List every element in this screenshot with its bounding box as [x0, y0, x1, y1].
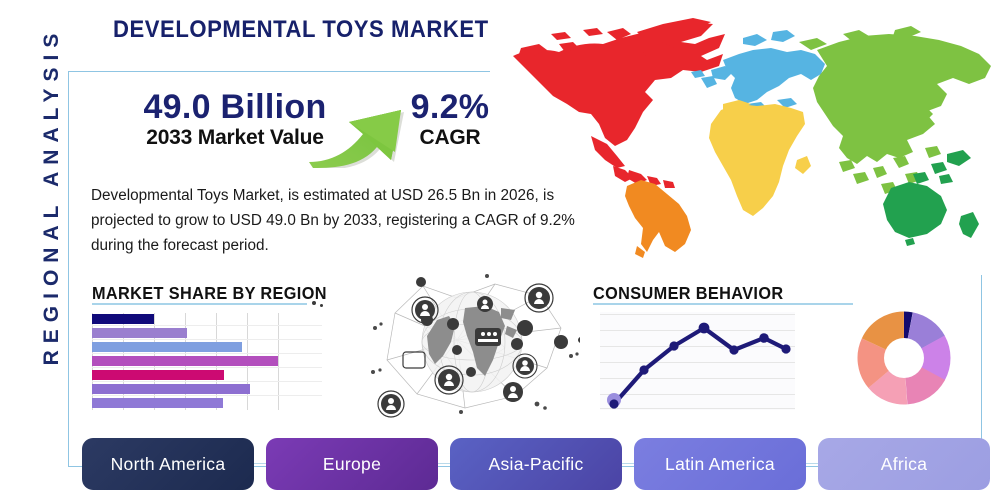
rule-dot-a	[312, 301, 316, 305]
region-tab-label: Africa	[881, 454, 928, 475]
bar-3	[92, 342, 242, 352]
region-tab-europe[interactable]: Europe	[266, 438, 438, 490]
cagr-number: 9.2%	[390, 88, 510, 126]
region-tab-asia-pacific[interactable]: Asia-Pacific	[450, 438, 622, 490]
bar-1	[92, 314, 154, 324]
vertical-section-label: REGIONAL ANALYSIS	[32, 0, 72, 396]
global-network-icon	[365, 268, 580, 418]
cagr-caption: CAGR	[390, 126, 510, 150]
market-share-heading: MARKET SHARE BY REGION	[92, 283, 327, 304]
region-tab-africa[interactable]: Africa	[818, 438, 990, 490]
bar-7	[92, 398, 223, 408]
region-tab-label: Latin America	[665, 454, 775, 475]
consumer-behavior-line-chart	[600, 312, 795, 410]
world-map-icon	[495, 8, 995, 270]
market-share-rule	[92, 303, 307, 305]
region-tab-label: Europe	[323, 454, 381, 475]
region-tab-label: Asia-Pacific	[488, 454, 583, 475]
consumer-behavior-heading: CONSUMER BEHAVIOR	[593, 283, 783, 304]
bar-5	[92, 370, 224, 380]
consumer-behavior-rule	[593, 303, 853, 305]
consumer-segment-donut-chart	[857, 311, 951, 405]
region-tab-north-america[interactable]: North America	[82, 438, 254, 490]
region-tab-latin-america[interactable]: Latin America	[634, 438, 806, 490]
region-tab-label: North America	[111, 454, 226, 475]
bar-2	[92, 328, 187, 338]
donut-center-hole	[884, 338, 924, 378]
kpi-block: 49.0 Billion 2033 Market Value 9.2% CAGR	[90, 88, 510, 168]
page-title: DEVELOPMENTAL TOYS MARKET	[113, 16, 489, 44]
bar-6	[92, 384, 250, 394]
region-nav-bar: North America Europe Asia-Pacific Latin …	[82, 438, 990, 490]
infographic-root: REGIONAL ANALYSIS DEVELOPMENTAL TOYS MAR…	[0, 0, 1000, 500]
rule-dot-b	[320, 304, 323, 307]
market-share-bar-chart	[92, 313, 322, 410]
cagr-stat: 9.2% CAGR	[390, 88, 510, 150]
bar-4	[92, 356, 278, 366]
